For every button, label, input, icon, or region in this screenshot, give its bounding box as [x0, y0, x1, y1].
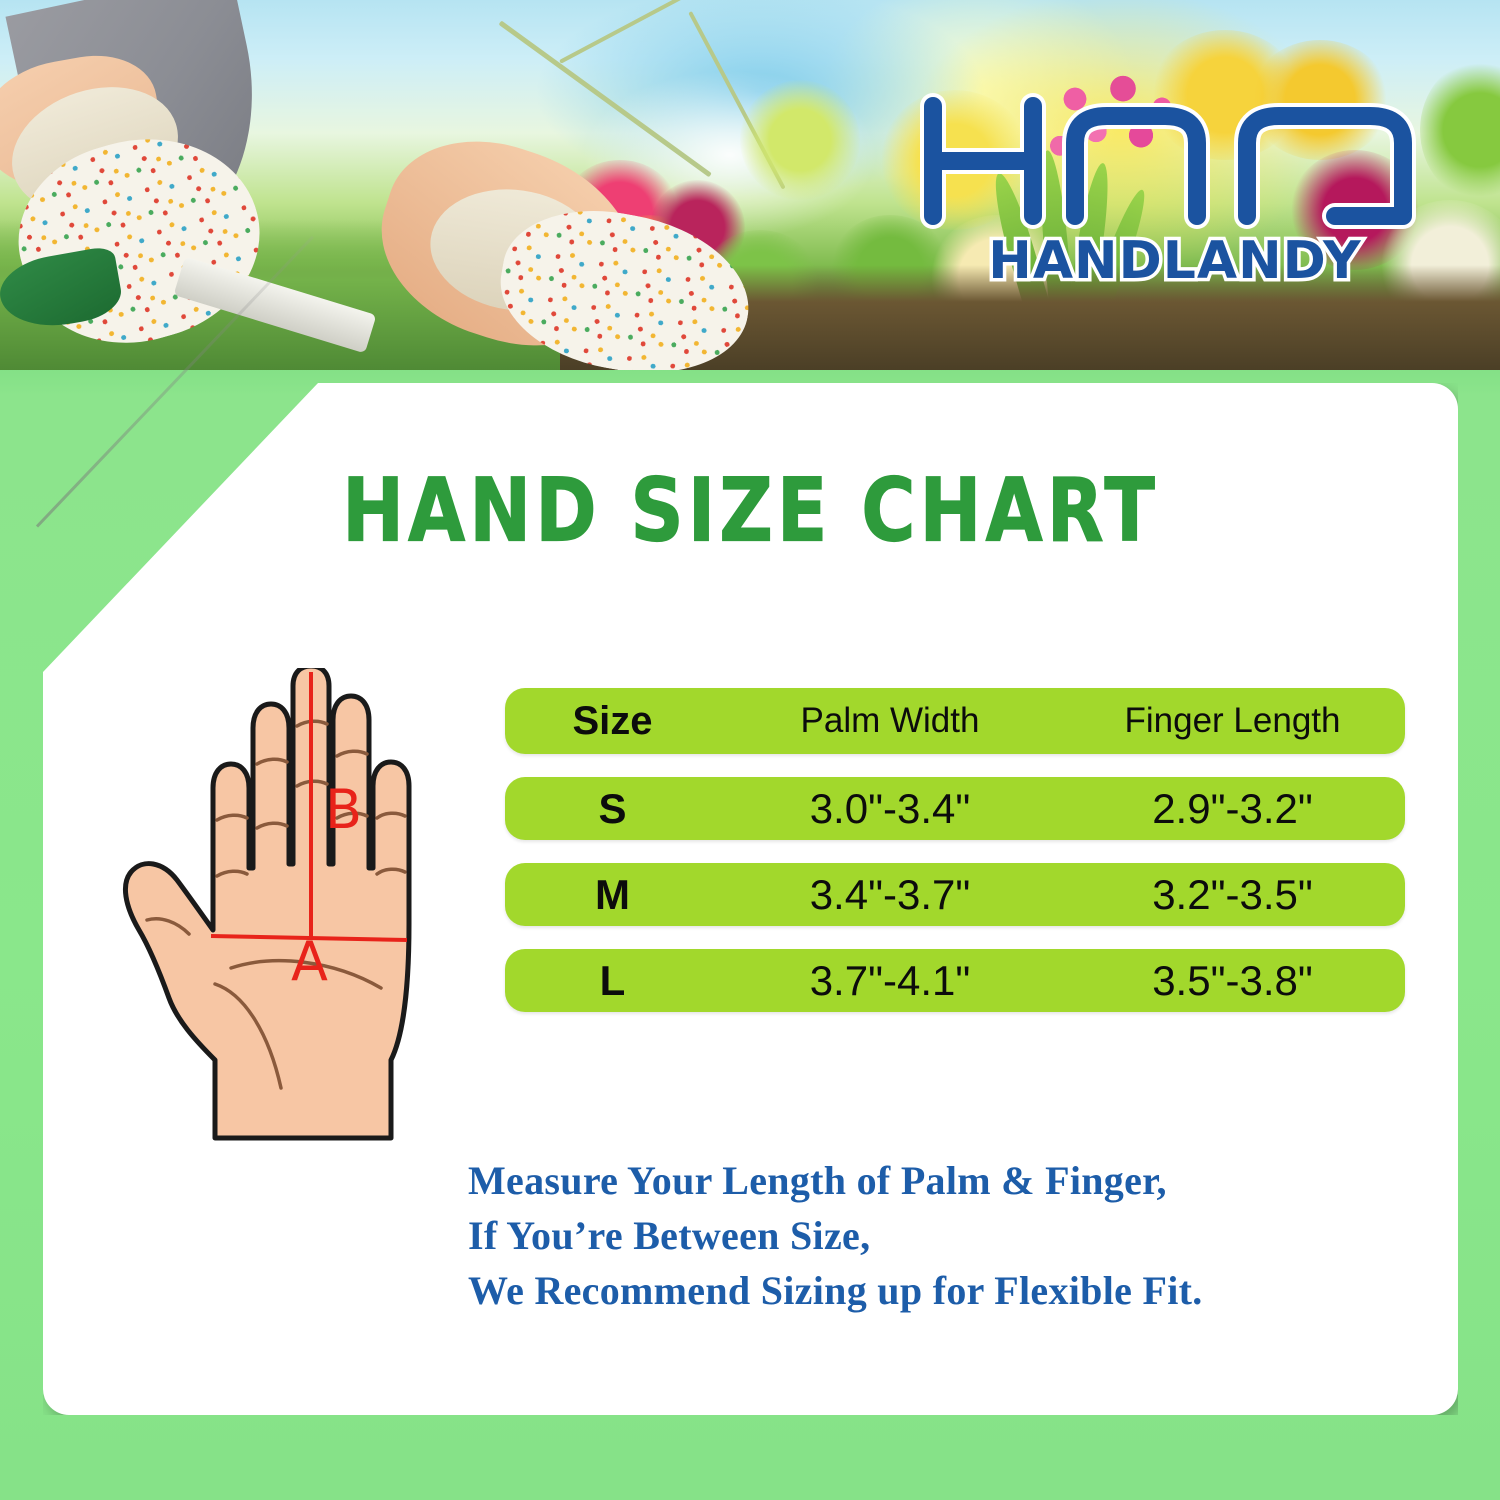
brand-name: HANDLANDY: [988, 231, 1362, 288]
column-header-size: Size: [505, 699, 720, 744]
cell-finger-length: 3.5"-3.8": [1060, 957, 1405, 1005]
column-header-palm-width: Palm Width: [720, 701, 1060, 741]
gardening-photo-banner: HANDLANDY: [0, 0, 1500, 370]
cell-size: S: [505, 785, 720, 833]
measuring-instructions: Measure Your Length of Palm & Finger, If…: [468, 1153, 1428, 1319]
poster-canvas: HANDLANDY HAND SIZE CHART: [0, 0, 1500, 1500]
flower-blur: [740, 80, 860, 200]
page-title: HAND SIZE CHART: [43, 460, 1458, 561]
cell-palm-width: 3.7"-4.1": [720, 957, 1060, 1005]
cell-finger-length: 2.9"-3.2": [1060, 785, 1405, 833]
instruction-line-3: We Recommend Sizing up for Flexible Fit.: [468, 1263, 1428, 1318]
cell-finger-length: 3.2"-3.5": [1060, 871, 1405, 919]
table-row: L 3.7"-4.1" 3.5"-3.8": [505, 949, 1405, 1012]
size-chart-card: HAND SIZE CHART: [43, 383, 1458, 1415]
cell-size: M: [505, 871, 720, 919]
size-table: Size Palm Width Finger Length S 3.0"-3.4…: [505, 688, 1405, 1035]
cell-size: L: [505, 957, 720, 1005]
instruction-line-2: If You’re Between Size,: [468, 1208, 1428, 1263]
measure-label-b: B: [325, 778, 362, 841]
instruction-line-1: Measure Your Length of Palm & Finger,: [468, 1153, 1428, 1208]
hand-measurement-diagram: B A: [103, 668, 503, 1148]
brand-logo: HANDLANDY: [915, 88, 1435, 288]
measure-label-a: A: [291, 930, 328, 993]
table-row: S 3.0"-3.4" 2.9"-3.2": [505, 777, 1405, 840]
table-row: M 3.4"-3.7" 3.2"-3.5": [505, 863, 1405, 926]
column-header-finger-length: Finger Length: [1060, 701, 1405, 741]
table-header-row: Size Palm Width Finger Length: [505, 688, 1405, 754]
cell-palm-width: 3.4"-3.7": [720, 871, 1060, 919]
cell-palm-width: 3.0"-3.4": [720, 785, 1060, 833]
